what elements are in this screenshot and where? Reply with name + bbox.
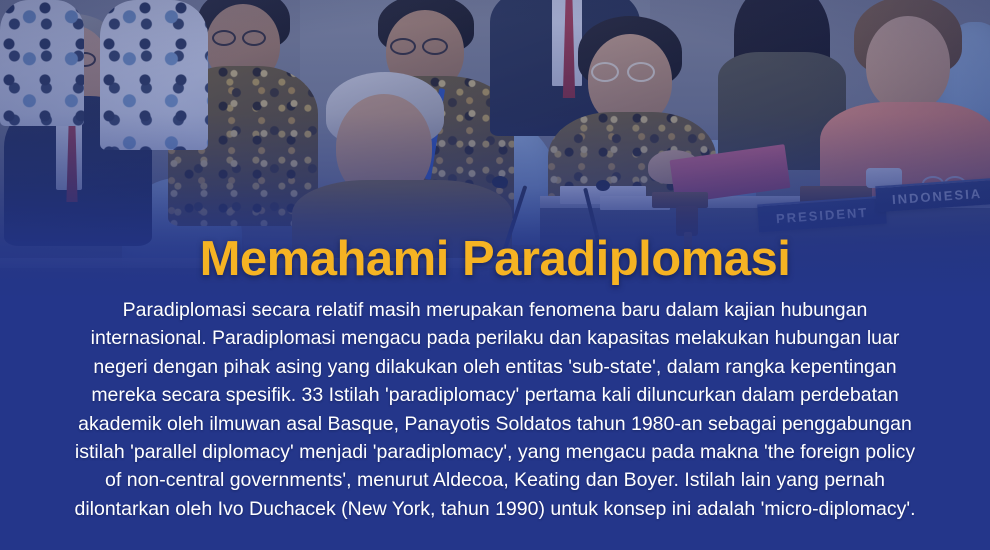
- body-paragraph: Paradiplomasi secara relatif masih merup…: [70, 296, 920, 523]
- page-title: Memahami Paradiplomasi: [0, 234, 990, 285]
- infographic-card: PRESIDENT INDONESIA Memahami Paradiploma…: [0, 0, 990, 550]
- card-content: Memahami Paradiplomasi Paradiplomasi sec…: [0, 0, 990, 550]
